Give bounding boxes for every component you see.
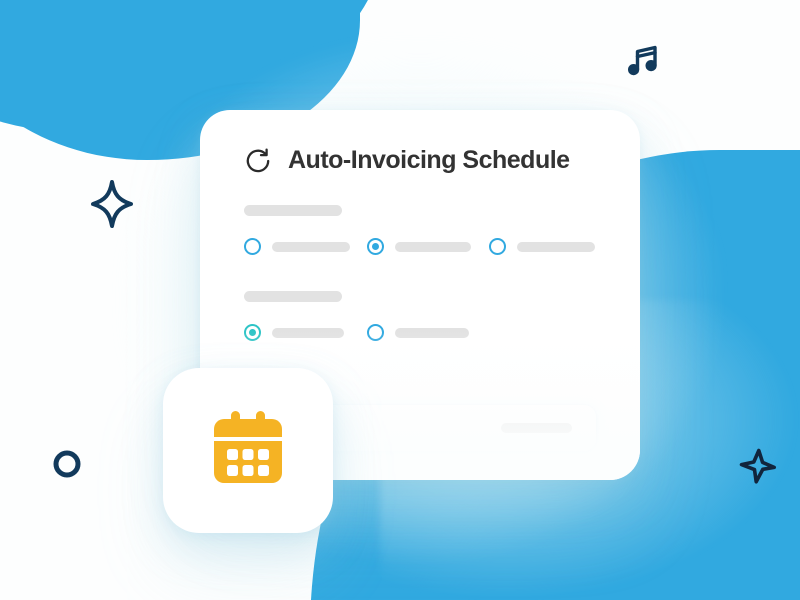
- group-label-placeholder-1: [244, 205, 342, 216]
- sparkle-icon-left: [88, 178, 136, 230]
- radio-label-placeholder: [395, 328, 469, 338]
- radio-option-2-2[interactable]: [367, 324, 489, 341]
- group-label-placeholder-2: [244, 291, 342, 302]
- radio-option-1-3[interactable]: [489, 238, 595, 255]
- radio-icon-selected[interactable]: [244, 324, 261, 341]
- star-outline-icon: [733, 443, 779, 489]
- page-title: Auto-Invoicing Schedule: [288, 146, 570, 175]
- field-value-placeholder: [501, 423, 572, 433]
- calendar-tile[interactable]: [163, 368, 333, 533]
- radio-label-placeholder: [517, 242, 595, 252]
- radio-group-1: [244, 238, 596, 255]
- illustration-scene: Auto-Invoicing Schedule: [0, 0, 800, 600]
- radio-group-2: [244, 324, 596, 341]
- music-note-icon: [622, 38, 670, 86]
- radio-option-2-1[interactable]: [244, 324, 367, 341]
- radio-option-1-1[interactable]: [244, 238, 367, 255]
- radio-option-1-2[interactable]: [367, 238, 489, 255]
- radio-label-placeholder: [395, 242, 471, 252]
- calendar-icon: [210, 409, 286, 492]
- radio-label-placeholder: [272, 328, 344, 338]
- refresh-icon[interactable]: [244, 147, 272, 175]
- radio-icon[interactable]: [367, 324, 384, 341]
- card-header: Auto-Invoicing Schedule: [244, 146, 596, 175]
- radio-icon[interactable]: [489, 238, 506, 255]
- radio-label-placeholder: [272, 242, 350, 252]
- radio-icon-selected[interactable]: [367, 238, 384, 255]
- radio-icon[interactable]: [244, 238, 261, 255]
- circle-outline-icon: [51, 448, 83, 480]
